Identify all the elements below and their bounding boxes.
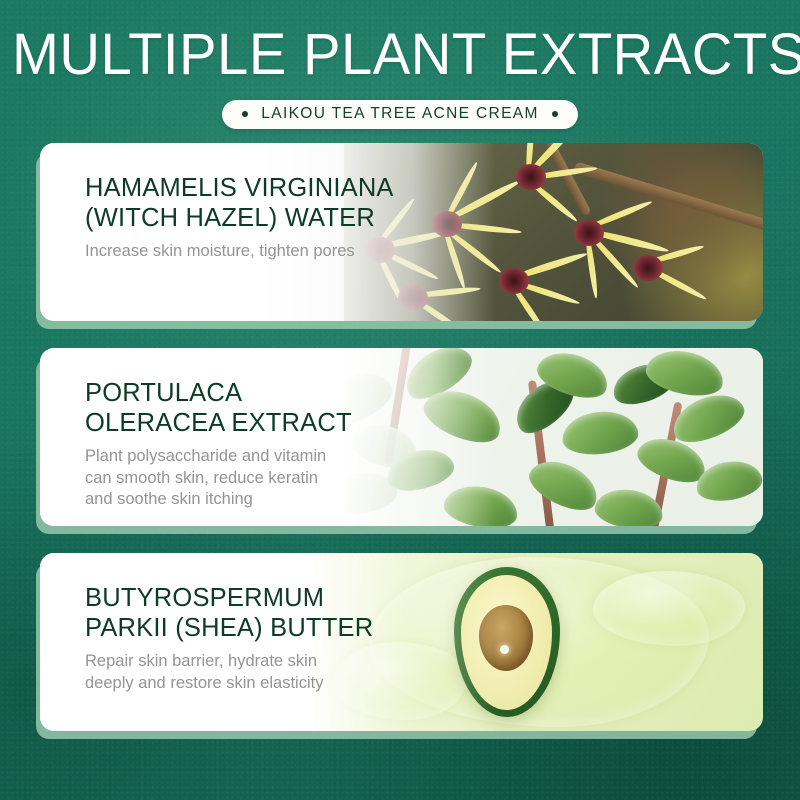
ingredient-title: PORTULACA OLERACEA EXTRACT — [85, 378, 495, 438]
ingredient-description: Repair skin barrier, hydrate skin deeply… — [85, 651, 495, 694]
ingredient-card-portulaca-oleracea[interactable]: PORTULACA OLERACEA EXTRACT Plant polysac… — [40, 348, 763, 526]
ingredient-card-body: HAMAMELIS VIRGINIANA (WITCH HAZEL) WATER… — [40, 143, 495, 263]
bullet-dot-left-icon — [242, 111, 248, 117]
ingredient-title: BUTYROSPERMUM PARKII (SHEA) BUTTER — [85, 583, 495, 643]
product-feature-poster: MULTIPLE PLANT EXTRACTS LAIKOU TEA TREE … — [0, 0, 800, 800]
product-name-label: LAIKOU TEA TREE ACNE CREAM — [261, 105, 538, 123]
ingredient-card-hamamelis-virginiana[interactable]: HAMAMELIS VIRGINIANA (WITCH HAZEL) WATER… — [40, 143, 763, 321]
poster-header: MULTIPLE PLANT EXTRACTS LAIKOU TEA TREE … — [0, 0, 800, 129]
ingredient-card-body: PORTULACA OLERACEA EXTRACT Plant polysac… — [40, 348, 495, 511]
ingredient-description: Increase skin moisture, tighten pores — [85, 241, 495, 263]
ingredient-description: Plant polysaccharide and vitamin can smo… — [85, 446, 495, 511]
bullet-dot-right-icon — [552, 111, 558, 117]
ingredient-title: HAMAMELIS VIRGINIANA (WITCH HAZEL) WATER — [85, 173, 495, 233]
ingredient-card-list: HAMAMELIS VIRGINIANA (WITCH HAZEL) WATER… — [0, 143, 800, 731]
ingredient-card-body: BUTYROSPERMUM PARKII (SHEA) BUTTER Repai… — [40, 553, 495, 694]
page-title: MULTIPLE PLANT EXTRACTS — [12, 24, 788, 86]
product-name-badge: LAIKOU TEA TREE ACNE CREAM — [222, 100, 577, 129]
ingredient-card-butyrospermum-parkii[interactable]: BUTYROSPERMUM PARKII (SHEA) BUTTER Repai… — [40, 553, 763, 731]
